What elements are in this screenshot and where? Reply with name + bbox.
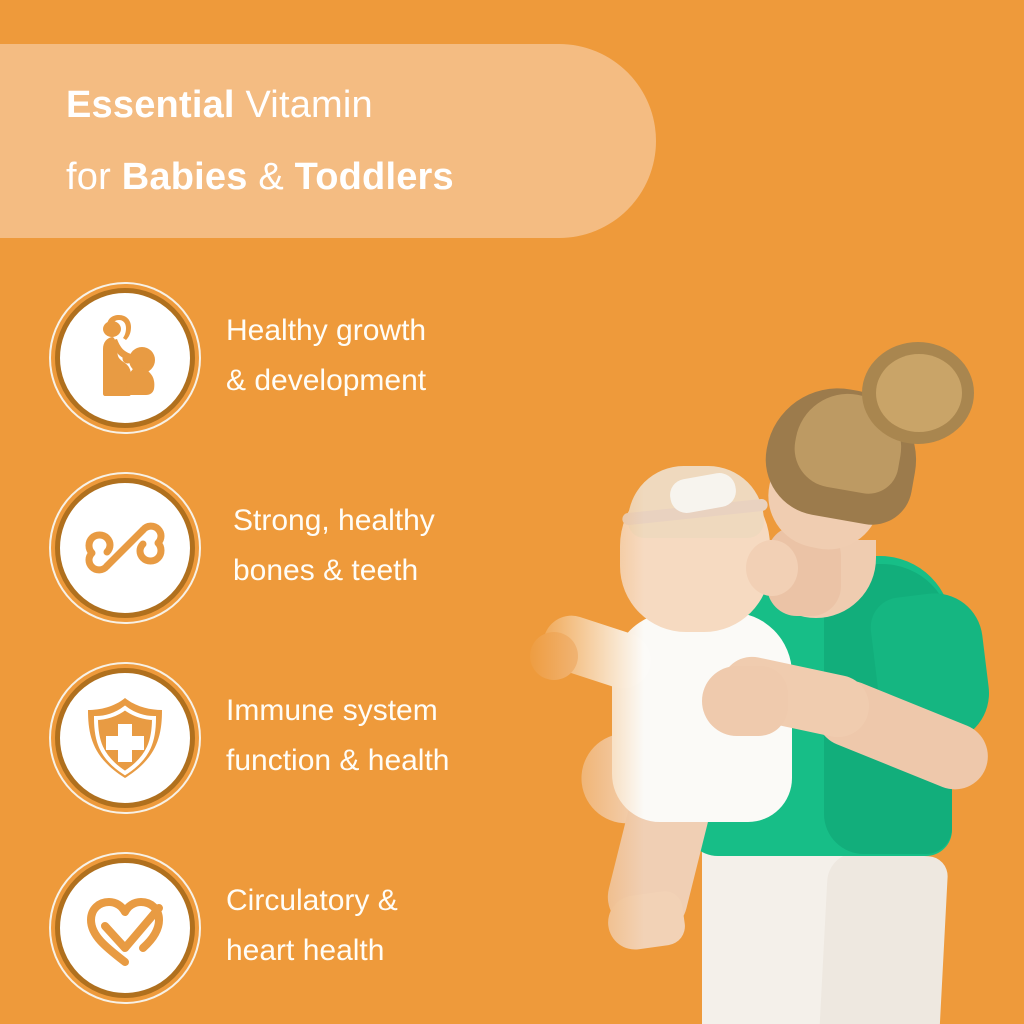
feature-text-immune-system: Immune system function & health	[226, 686, 450, 786]
heart-check-icon	[77, 880, 173, 976]
product-infographic-poster: Essential Vitamin for Babies & Toddlers	[0, 0, 1024, 1024]
feature-line-2: function & health	[226, 736, 450, 786]
mother-and-baby-badge	[55, 288, 195, 428]
feature-row-strong-bones: Strong, healthy bones & teeth	[0, 472, 560, 662]
header-essential-word: Essential	[66, 84, 235, 126]
bone-icon	[77, 500, 173, 596]
feature-text-healthy-growth: Healthy growth & development	[226, 306, 426, 406]
shield-cross-badge	[55, 668, 195, 808]
feature-list: Healthy growth & development Strong, hea…	[0, 282, 560, 1024]
feature-row-healthy-growth: Healthy growth & development	[0, 282, 560, 472]
feature-line-1: Healthy growth	[226, 306, 426, 356]
mother-and-baby-icon	[79, 312, 171, 404]
header-line-1: Essential Vitamin	[66, 69, 656, 141]
mother-pants-leg	[819, 851, 948, 1024]
header-banner: Essential Vitamin for Babies & Toddlers	[0, 44, 656, 238]
mother-hand	[702, 666, 788, 736]
shield-cross-icon	[78, 691, 172, 785]
feature-row-circulatory-health: Circulatory & heart health	[0, 852, 560, 1024]
baby-raised-hand	[746, 540, 798, 596]
feature-line-1: Strong, healthy	[233, 496, 435, 546]
header-ampersand: &	[258, 156, 284, 198]
feature-line-1: Circulatory &	[226, 876, 398, 926]
photo-edge-fade	[524, 294, 644, 1024]
bone-badge	[55, 478, 195, 618]
feature-text-strong-bones: Strong, healthy bones & teeth	[233, 496, 435, 596]
header-vitamin-word: Vitamin	[245, 84, 372, 126]
header-for-word: for	[66, 156, 111, 198]
feature-line-2: bones & teeth	[233, 546, 435, 596]
header-toddlers-word: Toddlers	[295, 156, 454, 198]
feature-line-2: heart health	[226, 926, 398, 976]
feature-row-immune-system: Immune system function & health	[0, 662, 560, 852]
heart-check-badge	[55, 858, 195, 998]
mother-holding-baby-photo	[524, 294, 1024, 1024]
feature-text-circulatory-health: Circulatory & heart health	[226, 876, 398, 976]
feature-line-2: & development	[226, 356, 426, 406]
feature-line-1: Immune system	[226, 686, 450, 736]
header-babies-word: Babies	[122, 156, 248, 198]
mother-hair-bun-inner	[876, 354, 962, 432]
header-line-2: for Babies & Toddlers	[66, 141, 656, 213]
